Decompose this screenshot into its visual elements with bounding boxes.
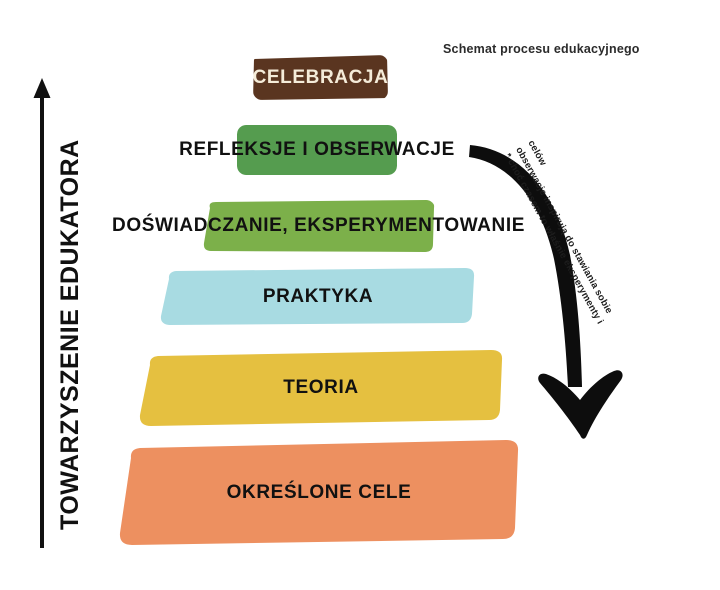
pyramid-label-teoria: TEORIA (283, 377, 358, 399)
pyramid-label-refleksje: REFLEKSJE I OBSERWACJE (179, 139, 455, 161)
pyramid-label-doswiadczanie: DOŚWIADCZANIE, EKSPERYMENTOWANIE (112, 215, 525, 237)
pyramid-label-cele: OKREŚLONE CELE (227, 482, 412, 504)
pyramid-label-celebracja: CELEBRACJA (253, 67, 389, 89)
diagram-canvas: Schemat procesu edukacyjnego TOWARZYSZEN… (0, 0, 720, 590)
pyramid-level-doswiadczanie[interactable]: DOŚWIADCZANIE, EKSPERYMENTOWANIE (202, 200, 435, 252)
pyramid-level-celebracja[interactable]: CELEBRACJA (253, 55, 388, 100)
page-title: Schemat procesu edukacyjnego (443, 42, 640, 56)
axis-label-text: TOWARZYSZENIE EDUKATORA (56, 100, 85, 530)
pyramid-label-praktyka: PRAKTYKA (263, 286, 373, 308)
pyramid-level-refleksje[interactable]: REFLEKSJE I OBSERWACJE (237, 125, 397, 175)
axis-label: TOWARZYSZENIE EDUKATORA (56, 0, 90, 100)
axis-arrow-icon (30, 78, 54, 548)
pyramid-level-cele[interactable]: OKREŚLONE CELE (118, 440, 520, 545)
pyramid-level-praktyka[interactable]: PRAKTYKA (160, 268, 476, 325)
